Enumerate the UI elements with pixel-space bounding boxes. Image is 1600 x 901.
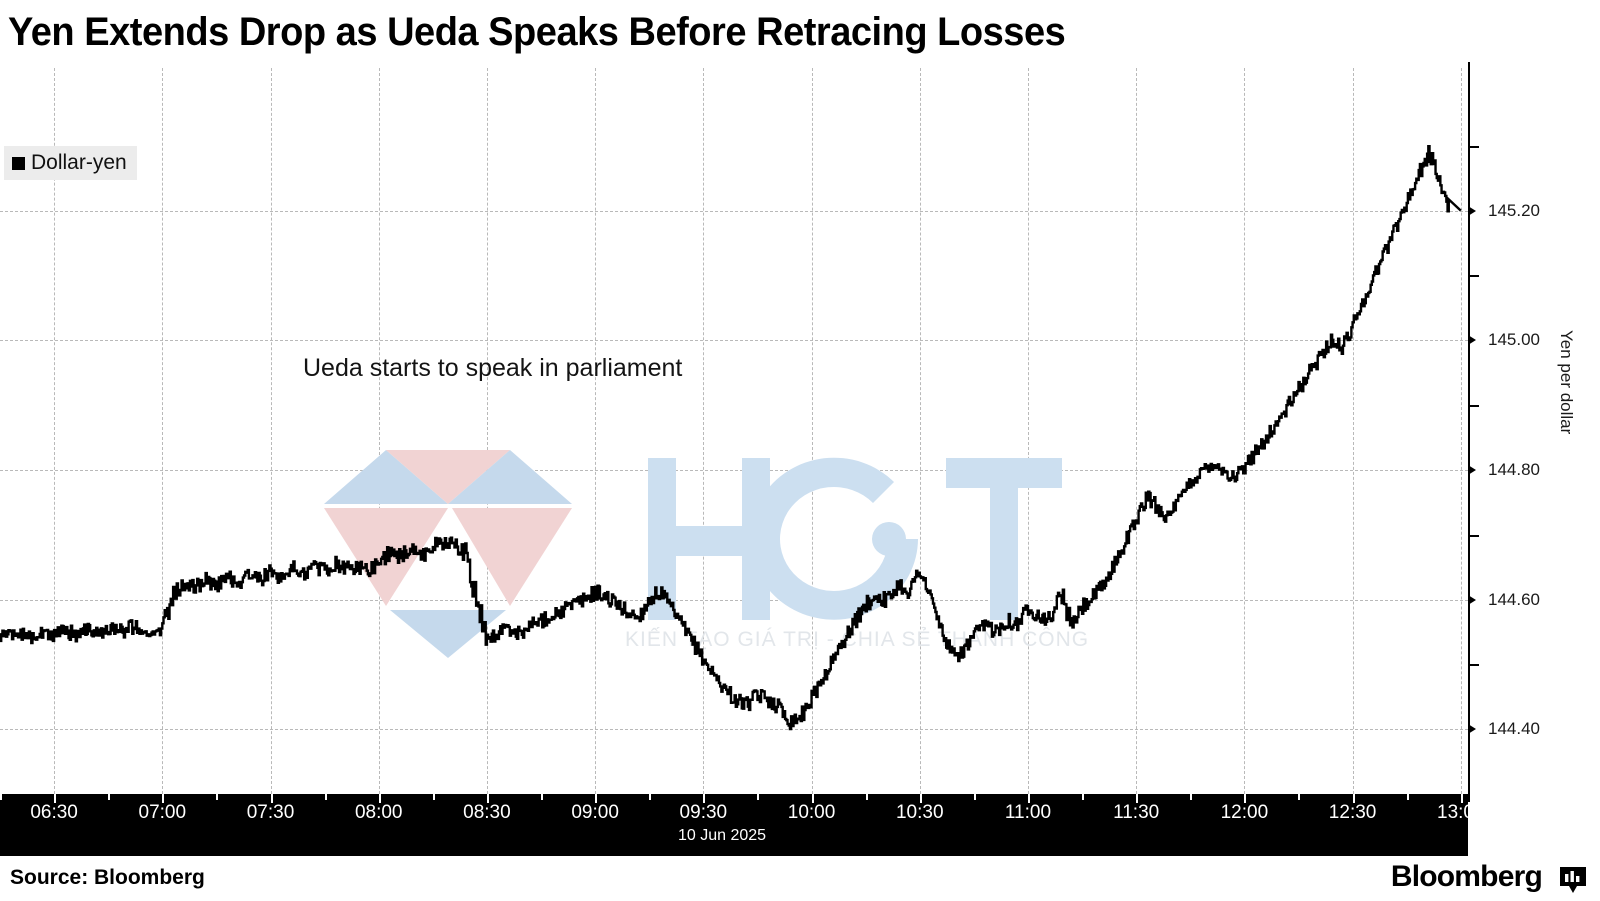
x-tick-minor xyxy=(1082,794,1084,800)
source-label: Source: Bloomberg xyxy=(10,866,205,890)
x-tick-label-1230: 12:30 xyxy=(1329,802,1377,824)
x-tick-label-1030: 10:30 xyxy=(896,802,944,824)
x-tick-label-1100: 11:00 xyxy=(1005,802,1051,824)
x-tick-minor xyxy=(1298,794,1300,800)
y-tick-arrow-145.20 xyxy=(1468,206,1476,216)
x-tick-label-0900: 09:00 xyxy=(571,802,619,824)
y-tick-label-145.00: 145.00 xyxy=(1488,330,1540,350)
y-tick-minor xyxy=(1470,275,1479,277)
x-tick-label-0800: 08:00 xyxy=(355,802,403,824)
x-tick-label-1130: 11:30 xyxy=(1113,802,1159,824)
x-tick-minor xyxy=(974,794,976,800)
y-tick-minor xyxy=(1470,535,1479,537)
dollar-yen-series xyxy=(0,68,1468,794)
y-tick-arrow-144.60 xyxy=(1468,595,1476,605)
y-axis-title: Yen per dollar xyxy=(1556,330,1576,434)
y-tick-label-145.20: 145.20 xyxy=(1488,201,1540,221)
y-tick-minor xyxy=(1470,405,1479,407)
bar-chart-badge-icon xyxy=(1558,865,1588,895)
x-tick-minor xyxy=(325,794,327,800)
x-tick-minor xyxy=(433,794,435,800)
y-tick-label-144.80: 144.80 xyxy=(1488,460,1540,480)
y-tick-arrow-145.00 xyxy=(1468,335,1476,345)
x-tick-label-0630: 06:30 xyxy=(30,802,78,824)
x-tick-label-0730: 07:30 xyxy=(247,802,295,824)
x-tick-label-1300: 13:00 xyxy=(1437,802,1485,824)
legend-label-dollar-yen: Dollar-yen xyxy=(31,151,127,175)
y-tick-minor xyxy=(1470,146,1479,148)
x-tick-minor xyxy=(649,794,651,800)
x-tick-minor xyxy=(866,794,868,800)
x-tick-minor xyxy=(108,794,110,800)
x-tick-label-0700: 07:00 xyxy=(139,802,187,824)
x-tick-minor xyxy=(216,794,218,800)
x-tick-label-1000: 10:00 xyxy=(788,802,836,824)
x-tick-minor xyxy=(0,794,2,800)
chart-title: Yen Extends Drop as Ueda Speaks Before R… xyxy=(8,6,1490,58)
y-tick-label-144.60: 144.60 xyxy=(1488,590,1540,610)
x-tick-minor xyxy=(1407,794,1409,800)
plot-area: KIẾN TẠO GIÁ TRỊ - CHIA SẺ THÀNH CÔNG Ue… xyxy=(0,68,1468,794)
y-tick-label-144.40: 144.40 xyxy=(1488,719,1540,739)
y-tick-arrow-144.80 xyxy=(1468,465,1476,475)
x-axis-date-label: 10 Jun 2025 xyxy=(678,827,766,845)
chart-legend[interactable]: Dollar-yen xyxy=(4,146,137,180)
x-tick-label-0830: 08:30 xyxy=(463,802,511,824)
x-tick-minor xyxy=(757,794,759,800)
chart-footer: Source: Bloomberg Bloomberg xyxy=(0,856,1600,901)
x-tick-minor xyxy=(1190,794,1192,800)
x-tick-label-1200: 12:00 xyxy=(1221,802,1269,824)
x-tick-label-0930: 09:30 xyxy=(680,802,728,824)
x-axis-band: 06:3007:0007:3008:0008:3009:0009:3010:00… xyxy=(0,794,1468,856)
y-tick-arrow-144.40 xyxy=(1468,724,1476,734)
bloomberg-wordmark: Bloomberg xyxy=(1391,860,1542,894)
legend-swatch-dollar-yen xyxy=(12,157,25,170)
x-tick-minor xyxy=(541,794,543,800)
y-tick-minor xyxy=(1470,664,1479,666)
y-axis-spine xyxy=(1468,62,1470,802)
